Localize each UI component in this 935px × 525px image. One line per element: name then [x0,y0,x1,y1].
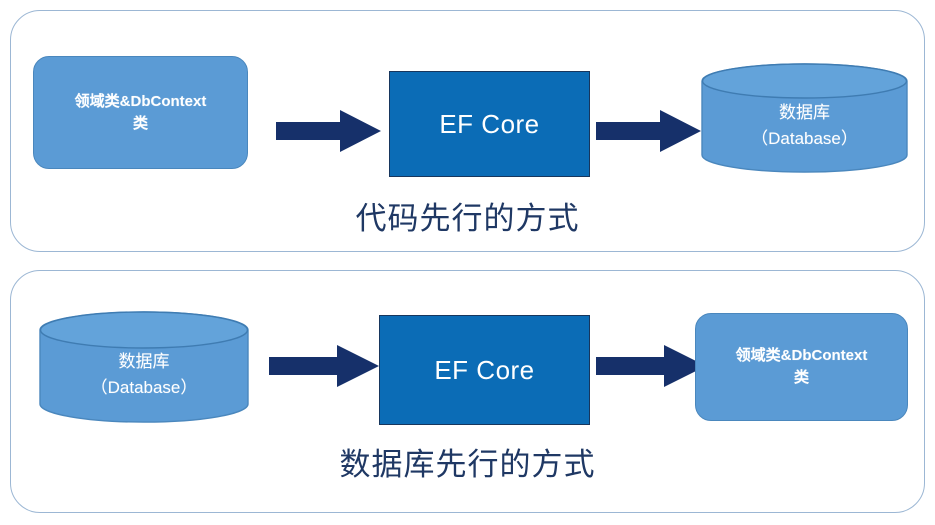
node-database-top[interactable]: 数据库 （Database） [701,63,908,173]
panel-code-first: 领域类&DbContext 类 EF Core 数据库 （Database） 代… [10,10,925,252]
node-label: 领域类&DbContext 类 [75,91,207,135]
node-label-line1: 领域类&DbContext [736,347,868,364]
node-label-line1: 领域类&DbContext [75,93,207,110]
node-label-line2: 类 [133,115,148,132]
node-domain-classes-top[interactable]: 领域类&DbContext 类 [33,56,248,169]
node-ef-core-bottom[interactable]: EF Core [379,315,590,425]
panel-caption-code-first: 代码先行的方式 [11,193,924,238]
arrow-right-icon-4 [596,341,706,391]
node-database-bottom[interactable]: 数据库 （Database） [39,311,249,423]
node-ef-core-top[interactable]: EF Core [389,71,590,177]
node-label: EF Core [439,109,539,140]
panel-caption-db-first: 数据库先行的方式 [11,439,924,484]
panel-db-first: 数据库 （Database） EF Core 领域类&DbContext 类 数… [10,270,925,513]
arrow-right-icon-2 [596,106,701,156]
arrow-right-icon-1 [276,106,381,156]
node-label: EF Core [434,355,534,386]
node-label-line2: 类 [794,369,809,386]
arrow-right-icon-3 [269,341,379,391]
node-label: 领域类&DbContext 类 [736,345,868,389]
node-domain-classes-bottom[interactable]: 领域类&DbContext 类 [695,313,908,421]
